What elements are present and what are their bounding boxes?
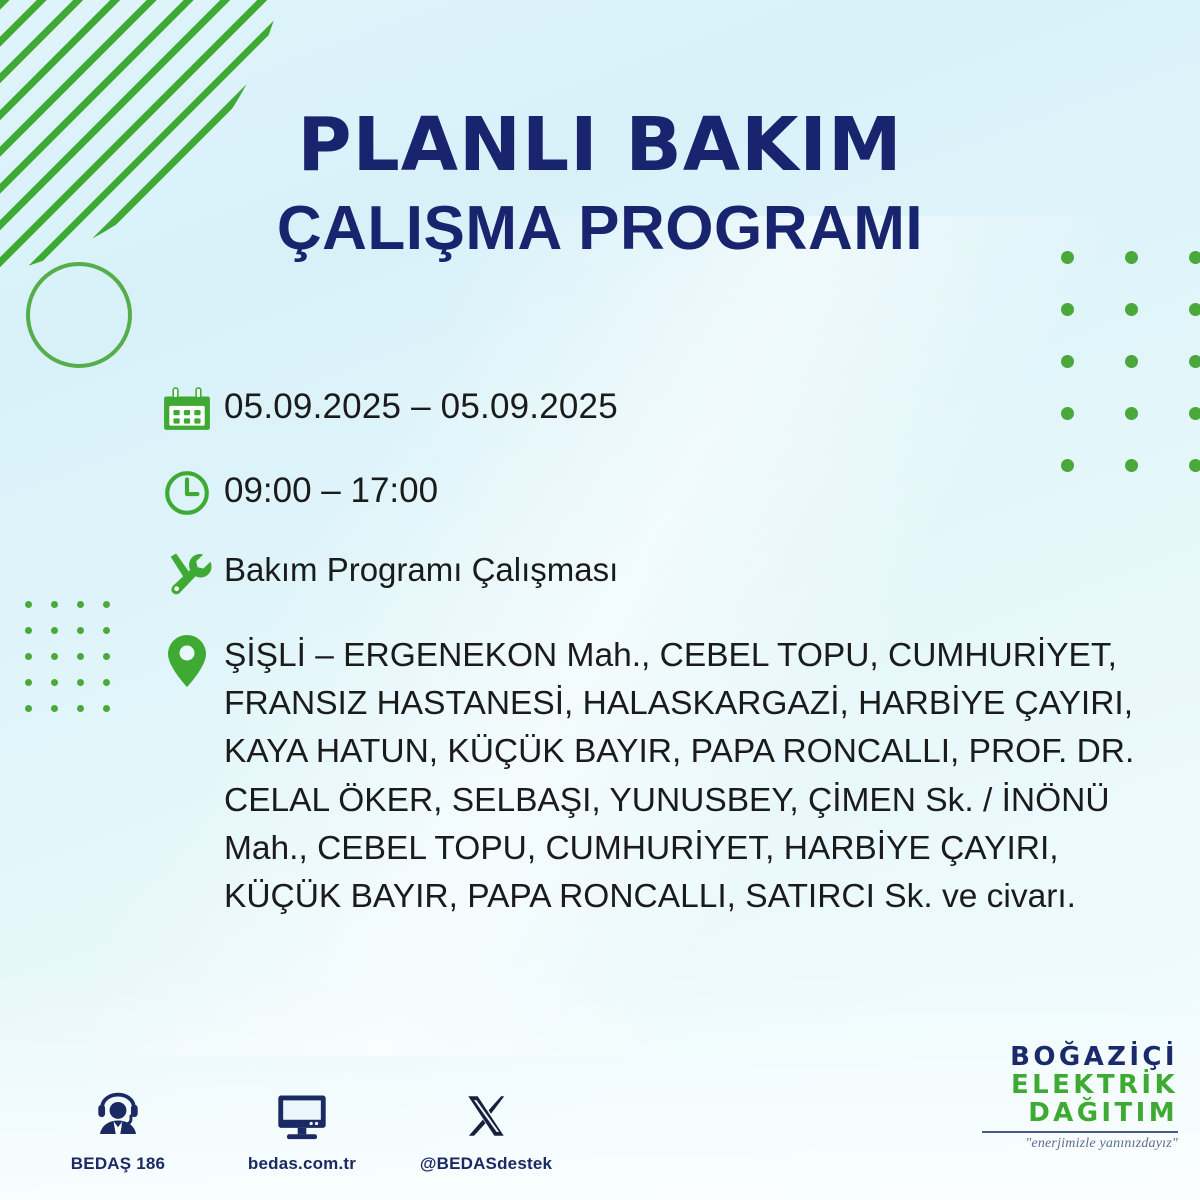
logo-line-dagitim: DAĞITIM xyxy=(968,1099,1178,1127)
logo-line-bogazici: BOĞAZİÇİ xyxy=(968,1043,1178,1071)
clock-icon xyxy=(162,462,224,524)
location-pin-icon xyxy=(162,630,224,692)
logo-divider xyxy=(982,1131,1178,1133)
maintenance-location-list: ŞİŞLİ – ERGENEKON Mah., CEBEL TOPU, CUMH… xyxy=(224,630,1162,921)
maintenance-time-range: 09:00 – 17:00 xyxy=(224,462,438,513)
contact-website[interactable]: bedas.com.tr xyxy=(232,1085,372,1174)
planned-maintenance-poster: PLANLI BAKIM ÇALIŞMA PROGRAMI xyxy=(0,0,1200,1200)
bedas-logo: BOĞAZİÇİ ELEKTRİK DAĞITIM "enerjimizle y… xyxy=(968,1043,1178,1152)
maintenance-details: 05.09.2025 – 05.09.2025 09:00 – 17:00 xyxy=(162,378,1162,943)
detail-row-time: 09:00 – 17:00 xyxy=(162,462,1162,524)
poster-footer: BEDAŞ 186 bedas.com.tr xyxy=(0,1058,1200,1178)
maintenance-work-type: Bakım Programı Çalışması xyxy=(224,542,618,590)
circle-outline-decoration xyxy=(26,262,132,368)
detail-row-work-type: Bakım Programı Çalışması xyxy=(162,542,1162,604)
monitor-icon xyxy=(232,1085,372,1147)
contact-phone[interactable]: BEDAŞ 186 xyxy=(48,1085,188,1174)
tools-icon xyxy=(162,542,224,604)
contact-website-label: bedas.com.tr xyxy=(232,1154,372,1174)
contact-phone-label: BEDAŞ 186 xyxy=(48,1154,188,1174)
x-social-icon xyxy=(416,1085,556,1147)
page-title: PLANLI BAKIM xyxy=(0,108,1200,182)
dot-grid-left-decoration xyxy=(16,592,120,722)
page-subtitle: ÇALIŞMA PROGRAMI xyxy=(0,198,1200,260)
contact-social[interactable]: @BEDASdestek xyxy=(416,1085,556,1174)
logo-tagline: "enerjimizle yanınızdayız" xyxy=(968,1136,1178,1152)
detail-row-location: ŞİŞLİ – ERGENEKON Mah., CEBEL TOPU, CUMH… xyxy=(162,630,1162,921)
calendar-icon xyxy=(162,378,224,440)
maintenance-date-range: 05.09.2025 – 05.09.2025 xyxy=(224,378,618,429)
detail-row-date: 05.09.2025 – 05.09.2025 xyxy=(162,378,1162,440)
logo-line-elektrik: ELEKTRİK xyxy=(968,1071,1178,1099)
contact-social-label: @BEDASdestek xyxy=(416,1154,556,1174)
contact-channels: BEDAŞ 186 bedas.com.tr xyxy=(48,1085,556,1174)
call-center-agent-icon xyxy=(48,1085,188,1147)
poster-header: PLANLI BAKIM ÇALIŞMA PROGRAMI xyxy=(0,108,1200,260)
